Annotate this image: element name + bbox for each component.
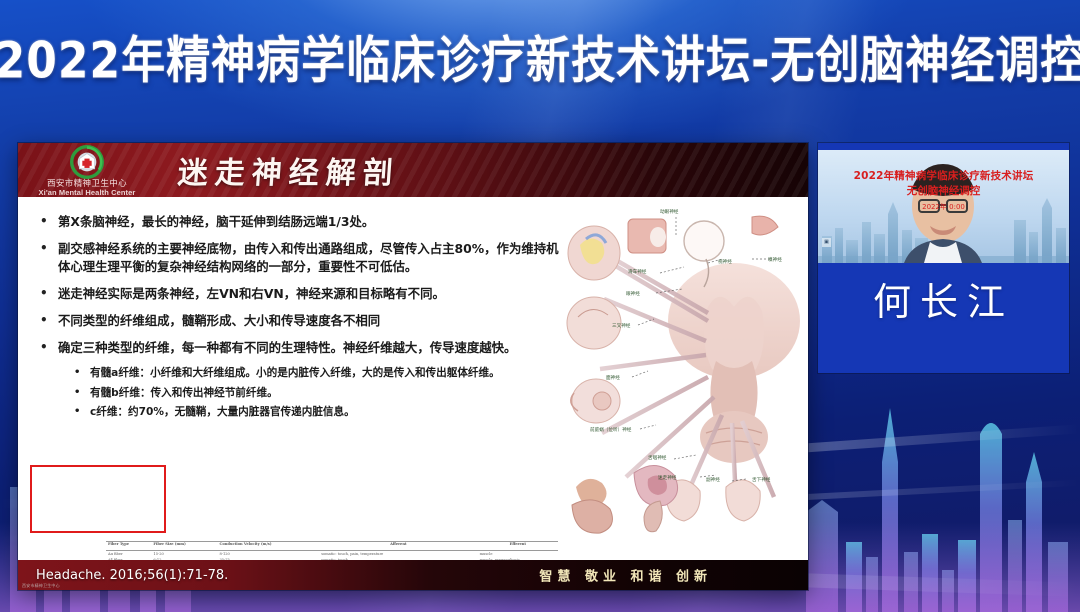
bullet-dot-icon: • [40,285,48,303]
video-overlay-date: 2022年 0:00 [818,202,1069,212]
sub-bullet-text: c纤维：约70%，无髓鞘，大量内脏器官传递内脏信息。 [90,405,355,420]
bullet-dot-icon: • [74,366,81,381]
sub-bullet-text: 有髓b纤维：传入和传出神经节前纤维。 [90,386,278,401]
anatomy-label: 三叉神经 [612,322,631,329]
footer-watermark: 西安市精神卫生中心 [22,583,60,589]
table-header-cell: Fiber Size (mm) [151,542,217,551]
webinar-stage: 2022年精神病学临床诊疗新技术讲坛-无创脑神经调控 西安市精神卫生中心 Xi'… [0,0,1080,612]
shared-slide[interactable]: 西安市精神卫生中心 Xi'an Mental Health Center 迷走神… [18,143,808,590]
table-cell: 8-120 [217,550,319,558]
table-cell: muscle [478,550,558,558]
bullet-dot-icon: • [74,405,81,420]
table-header-cell: Conduction Velocity (m/s) [217,542,319,551]
hospital-logo-icon [70,145,104,179]
slide-header-bar: 西安市精神卫生中心 Xi'an Mental Health Center 迷走神… [18,143,808,197]
anatomy-label: 舌下神经 [752,476,771,483]
page-title: 2022年精神病学临床诊疗新技术讲坛-无创脑神经调控 [0,20,1080,93]
table-header-cell: Efferent [478,542,558,551]
bullet-item: • 不同类型的纤维组成，髓鞘形成、大小和传导速度各不相同 [40,312,560,330]
anatomy-label: 副神经 [706,476,720,483]
anatomy-label: 滑车神经 [628,268,647,275]
bullet-dot-icon: • [40,213,48,231]
anatomy-label: 眼神经 [626,290,640,297]
bullet-dot-icon: • [40,240,48,276]
institution-brand: 西安市精神卫生中心 Xi'an Mental Health Center [18,143,156,197]
speaker-video-panel[interactable]: 2022年精神病学临床诊疗新技术讲坛 无创脑神经调控 2022年 0:00 ▣ … [818,143,1069,373]
anatomy-label: 嗅神经 [768,256,782,263]
anatomy-label: 前庭蜗（位听）神经 [590,426,632,433]
institution-name-cn: 西安市精神卫生中心 [47,180,127,189]
bullet-item: • 迷走神经实际是两条神经，左VN和右VN，神经来源和目标略有不同。 [40,285,560,303]
bullet-text: 第X条脑神经，最长的神经，脑干延伸到结肠远端1/3处。 [58,213,374,231]
table-cell: somatic: touch, pain, temperature [319,550,477,558]
sub-bullet-text: 有髓a纤维：小纤维和大纤维组成。小的是内脏传入纤维，大的是传入和传出躯体纤维。 [90,366,500,381]
bullet-dot-icon: • [40,339,48,357]
slide-footer-bar: Headache. 2016;56(1):71-78. 西安市精神卫生中心 智慧… [18,560,808,590]
bullet-item: • 确定三种类型的纤维，每一种都有不同的生理特性。神经纤维越大，传导速度越快。 [40,339,560,357]
sub-bullet-item: • 有髓b纤维：传入和传出神经节前纤维。 [74,386,560,401]
table-header-cell: Fiber Type [106,542,151,551]
bullet-item: • 第X条脑神经，最长的神经，脑干延伸到结肠远端1/3处。 [40,213,560,231]
webcam-feed[interactable]: 2022年精神病学临床诊疗新技术讲坛 无创脑神经调控 2022年 0:00 ▣ [818,150,1069,263]
cranial-nerve-anatomy-illustration: 动眼神经 滑车神经 眼神经 视神经 嗅神经 三叉神经 面神经 前庭蜗（位听）神经… [556,201,806,541]
video-overlay-subtitle: 无创脑神经调控 [818,183,1069,198]
sub-bullet-list: • 有髓a纤维：小纤维和大纤维组成。小的是内脏传入纤维，大的是传入和传出躯体纤维… [74,366,560,420]
slide-body: • 第X条脑神经，最长的神经，脑干延伸到结肠远端1/3处。 • 副交感神经系统的… [18,197,808,560]
vagus-nerve-highlight-box [30,465,166,533]
table-header-cell: Afferent [319,542,477,551]
anatomy-label: 视神经 [718,258,732,265]
speaker-name-label: 何长江 [818,271,1069,326]
footer-slogan: 智慧 敬业 和谐 创新 [539,566,712,585]
anatomy-label: 动眼神经 [660,208,679,215]
bullet-text: 确定三种类型的纤维，每一种都有不同的生理特性。神经纤维越大，传导速度越快。 [58,339,516,357]
bullet-text: 副交感神经系统的主要神经底物，由传入和传出通路组成，尽管传入占主80%，作为维持… [58,240,560,276]
bullet-text: 不同类型的纤维组成，髓鞘形成、大小和传导速度各不相同 [58,312,380,330]
slide-title: 迷走神经解剖 [176,148,401,192]
slide-bullet-list: • 第X条脑神经，最长的神经，脑干延伸到结肠远端1/3处。 • 副交感神经系统的… [40,213,560,425]
sub-bullet-item: • c纤维：约70%，无髓鞘，大量内脏器官传递内脏信息。 [74,405,560,420]
table-cell: Aα fiber [106,550,151,558]
video-overlay-title: 2022年精神病学临床诊疗新技术讲坛 [818,168,1069,183]
webinar-header: 2022年精神病学临床诊疗新技术讲坛-无创脑神经调控 [0,0,1080,112]
table-row: Aα fiber 15-20 8-120 somatic: touch, pai… [106,550,558,558]
bullet-item: • 副交感神经系统的主要神经底物，由传入和传出通路组成，尽管传入占主80%，作为… [40,240,560,276]
bullet-dot-icon: • [40,312,48,330]
table-cell: 15-20 [151,550,217,558]
citation-text: Headache. 2016;56(1):71-78. [36,568,228,583]
anatomy-label: 舌咽神经 [648,454,667,461]
sub-bullet-item: • 有髓a纤维：小纤维和大纤维组成。小的是内脏传入纤维，大的是传入和传出躯体纤维… [74,366,560,381]
anatomy-label: 迷走神经 [658,474,677,481]
bullet-text: 迷走神经实际是两条神经，左VN和右VN，神经来源和目标略有不同。 [58,285,445,303]
anatomy-label: 面神经 [606,374,620,381]
bullet-dot-icon: • [74,386,81,401]
screen-share-badge-icon: ▣ [822,238,831,247]
